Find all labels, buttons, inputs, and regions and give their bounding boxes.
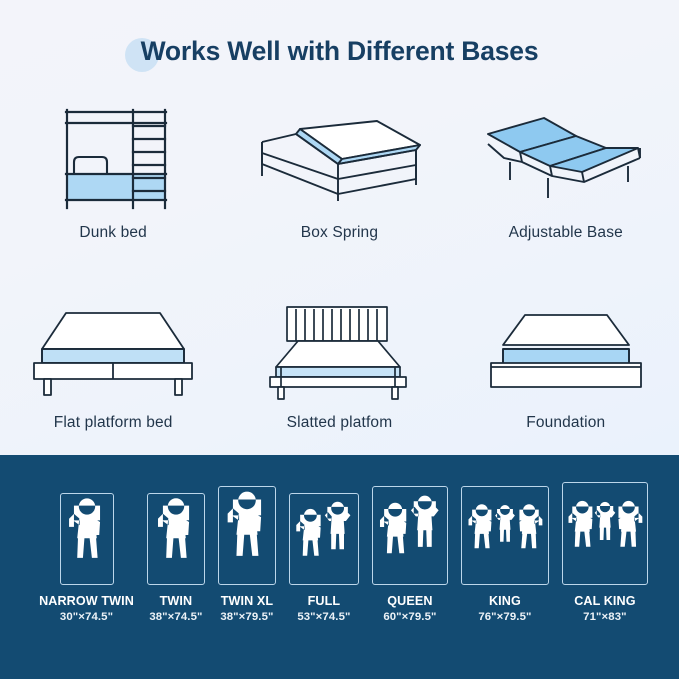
base-item-flat-platform-bed[interactable]: Flat platform bed [0, 300, 226, 432]
bases-row-2: Flat platform bed [0, 300, 679, 432]
mattress-size-narrow-twin-icon [60, 493, 114, 585]
mattress-size-twin-icon [147, 493, 205, 585]
mattress-size-queen-icon [372, 486, 448, 585]
base-item-label: Dunk bed [79, 224, 147, 242]
box-spring-icon [252, 96, 427, 216]
mattress-size-dimensions: 38"×74.5" [149, 611, 202, 623]
mattress-size-name: FULL [308, 594, 341, 608]
base-item-foundation[interactable]: Foundation [453, 300, 679, 432]
flat-platform-bed-icon [28, 300, 198, 408]
adjustable-base-icon [478, 96, 653, 216]
mattress-size-name: CAL KING [574, 594, 635, 608]
base-item-bunk-bed[interactable]: Dunk bed [0, 96, 226, 242]
mattress-size-name: TWIN XL [221, 594, 273, 608]
bases-row-1: Dunk bed [0, 96, 679, 242]
base-item-label: Slatted platfom [287, 414, 393, 432]
slatted-platform-icon [254, 300, 424, 408]
base-item-box-spring[interactable]: Box Spring [226, 96, 452, 242]
bases-section: Works Well with Different Bases [0, 0, 679, 455]
mattress-size-dimensions: 38"×79.5" [220, 611, 273, 623]
base-item-label: Adjustable Base [509, 224, 623, 242]
mattress-size-card[interactable]: NARROW TWIN30"×74.5" [39, 493, 134, 623]
mattress-size-full-icon [289, 493, 359, 585]
base-item-label: Foundation [526, 414, 605, 432]
base-item-label: Flat platform bed [54, 414, 173, 432]
mattress-size-card[interactable]: FULL53"×74.5" [289, 493, 359, 623]
mattress-size-twin-xl-icon [218, 486, 276, 585]
base-item-label: Box Spring [301, 224, 378, 242]
mattress-size-name: TWIN [160, 594, 193, 608]
mattress-size-dimensions: 53"×74.5" [297, 611, 350, 623]
mattress-size-dimensions: 30"×74.5" [60, 611, 113, 623]
mattress-size-card[interactable]: QUEEN60"×79.5" [372, 486, 448, 623]
bases-grid: Dunk bed [0, 96, 679, 432]
mattress-size-name: NARROW TWIN [39, 594, 134, 608]
mattress-size-king-icon [461, 486, 549, 585]
section-header: Works Well with Different Bases [0, 36, 679, 67]
base-item-slatted-platform[interactable]: Slatted platfom [226, 300, 452, 432]
mattress-size-dimensions: 71"×83" [583, 611, 627, 623]
mattress-size-name: QUEEN [387, 594, 432, 608]
mattress-size-cal-king-icon [562, 482, 648, 585]
foundation-icon [481, 300, 651, 408]
infographic-page: Works Well with Different Bases [0, 0, 679, 679]
mattress-size-card[interactable]: TWIN XL38"×79.5" [218, 486, 276, 623]
mattress-size-name: KING [489, 594, 521, 608]
mattress-size-dimensions: 60"×79.5" [383, 611, 436, 623]
base-item-adjustable-base[interactable]: Adjustable Base [453, 96, 679, 242]
bunk-bed-icon [48, 96, 178, 216]
mattress-size-card[interactable]: CAL KING71"×83" [562, 482, 648, 623]
mattress-sizes-row: NARROW TWIN30"×74.5"TWIN38"×74.5"TWIN XL… [0, 482, 679, 623]
mattress-size-card[interactable]: KING76"×79.5" [461, 486, 549, 623]
mattress-size-card[interactable]: TWIN38"×74.5" [147, 493, 205, 623]
mattress-size-dimensions: 76"×79.5" [478, 611, 531, 623]
page-title: Works Well with Different Bases [141, 36, 539, 66]
mattress-sizes-section: NARROW TWIN30"×74.5"TWIN38"×74.5"TWIN XL… [0, 455, 679, 679]
